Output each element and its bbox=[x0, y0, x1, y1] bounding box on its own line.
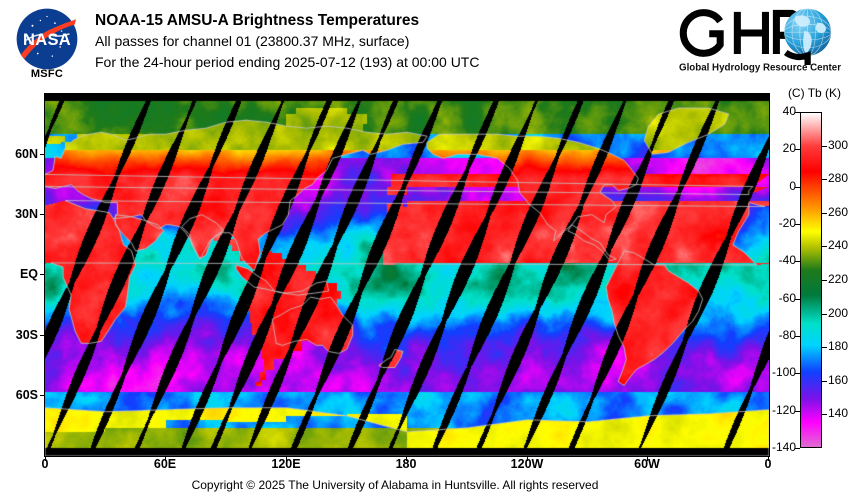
nasa-meatball-icon: NASA bbox=[14, 6, 80, 72]
xlabel-120e: 120E bbox=[256, 457, 316, 471]
page-title: NOAA-15 AMSU-A Brightness Temperatures bbox=[95, 10, 479, 31]
colorbar-label-k-2: 260 bbox=[828, 205, 854, 219]
colorbar-label-c-3: -20 bbox=[766, 216, 796, 230]
xlabel-60e: 60E bbox=[135, 457, 195, 471]
xlabel-180: 180 bbox=[376, 457, 436, 471]
colorbar-label-c-0: 40 bbox=[766, 104, 796, 118]
colorbar-tick-k-7 bbox=[822, 381, 827, 382]
colorbar-label-k-0: 300 bbox=[828, 138, 854, 152]
colorbar-gradient bbox=[800, 112, 822, 448]
colorbar-label-c-8: -120 bbox=[766, 403, 796, 417]
xlabel-360: 0 bbox=[738, 457, 798, 471]
colorbar-tick-k-4 bbox=[822, 280, 827, 281]
ylabel-60s: 60S bbox=[0, 388, 38, 402]
title-block: NOAA-15 AMSU-A Brightness Temperatures A… bbox=[95, 10, 479, 73]
colorbar-label-c-9: -140 bbox=[766, 440, 796, 454]
subtitle-channel: All passes for channel 01 (23800.37 MHz,… bbox=[95, 31, 479, 52]
xlabel-60w: 60W bbox=[617, 457, 677, 471]
ylabel-eq: EQ bbox=[0, 267, 38, 281]
svg-text:NASA: NASA bbox=[23, 31, 71, 49]
ylabel-30n: 30N bbox=[0, 207, 38, 221]
colorbar-tick-k-6 bbox=[822, 347, 827, 348]
ghrc-logo: Global Hydrology Resource Center bbox=[678, 4, 842, 76]
colorbar-label-c-5: -60 bbox=[766, 291, 796, 305]
colorbar-label-c-2: 0 bbox=[766, 179, 796, 193]
colorbar-label-k-3: 240 bbox=[828, 238, 854, 252]
colorbar-label-k-1: 280 bbox=[828, 171, 854, 185]
ghrc-subtitle: Global Hydrology Resource Center bbox=[679, 62, 841, 73]
colorbar-label-k-8: 140 bbox=[828, 406, 854, 420]
msfc-label: MSFC bbox=[14, 68, 80, 80]
colorbar-label-k-6: 180 bbox=[828, 339, 854, 353]
colorbar-label-k-4: 220 bbox=[828, 272, 854, 286]
colorbar-label-c-7: -100 bbox=[766, 365, 796, 379]
colorbar[interactable] bbox=[800, 112, 822, 448]
header: NASA MSFC NOAA-15 AMSU-A Brightness Temp… bbox=[0, 0, 854, 88]
ytick-60n bbox=[40, 154, 45, 155]
colorbar-label-k-7: 160 bbox=[828, 373, 854, 387]
colorbar-label-c-6: -80 bbox=[766, 328, 796, 342]
brightness-temperature-map[interactable] bbox=[44, 93, 770, 457]
colorbar-label-k-5: 200 bbox=[828, 306, 854, 320]
ylabel-30s: 30S bbox=[0, 328, 38, 342]
colorbar-tick-k-0 bbox=[822, 146, 827, 147]
xlabel-0: 0 bbox=[15, 457, 75, 471]
colorbar-tick-k-1 bbox=[822, 179, 827, 180]
ytick-30s bbox=[40, 335, 45, 336]
ytick-60s bbox=[40, 395, 45, 396]
ytick-eq bbox=[40, 274, 45, 275]
subtitle-period: For the 24-hour period ending 2025-07-12… bbox=[95, 52, 479, 73]
ylabel-60n: 60N bbox=[0, 147, 38, 161]
colorbar-label-c-1: 20 bbox=[766, 141, 796, 155]
colorbar-label-c-4: -40 bbox=[766, 253, 796, 267]
colorbar-tick-k-3 bbox=[822, 246, 827, 247]
map-canvas[interactable] bbox=[45, 94, 769, 456]
xlabel-120w: 120W bbox=[497, 457, 557, 471]
ytick-30n bbox=[40, 214, 45, 215]
colorbar-header: (C) Tb (K) bbox=[775, 86, 854, 100]
colorbar-tick-k-5 bbox=[822, 314, 827, 315]
colorbar-tick-k-8 bbox=[822, 414, 827, 415]
copyright-notice: Copyright © 2025 The University of Alaba… bbox=[0, 478, 790, 492]
colorbar-tick-k-2 bbox=[822, 213, 827, 214]
